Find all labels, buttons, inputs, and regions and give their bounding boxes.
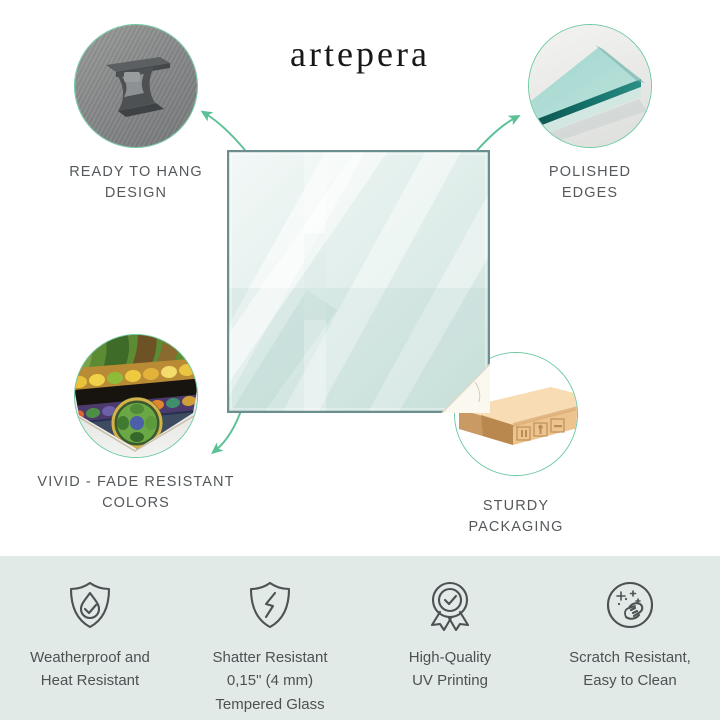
feature-image-wrap xyxy=(528,24,652,148)
glass-panel-product xyxy=(227,150,490,413)
spec-weatherproof: Weatherproof and Heat Resistant xyxy=(3,578,178,693)
feature-label: STURDY PACKAGING xyxy=(416,496,616,538)
spec-shatter-resistant: Shatter Resistant 0,15" (4 mm) Tempered … xyxy=(183,578,358,716)
feature-vivid-colors: VIVID - FADE RESISTANT COLORS xyxy=(36,334,236,514)
spec-bar: Weatherproof and Heat Resistant Shatter … xyxy=(0,556,720,720)
spec-label: Shatter Resistant 0,15" (4 mm) Tempered … xyxy=(183,646,358,716)
shield-bolt-icon xyxy=(183,578,358,632)
colorful-artwork-photo xyxy=(75,335,197,457)
polished-edges-circle xyxy=(528,24,652,148)
feature-label: VIVID - FADE RESISTANT COLORS xyxy=(36,472,236,514)
artwork-shape-icon xyxy=(75,335,198,458)
award-ribbon-check-icon xyxy=(363,578,538,632)
hanging-bracket-photo xyxy=(75,25,197,147)
product-infographic: artepera xyxy=(0,0,720,720)
spec-label: High-Quality UV Printing xyxy=(363,646,538,693)
glass-edge-photo xyxy=(529,25,651,147)
spec-uv-printing: High-Quality UV Printing xyxy=(363,578,538,693)
sparkle-cleaning-hand-icon xyxy=(543,578,718,632)
spec-scratch-resistant: Scratch Resistant, Easy to Clean xyxy=(543,578,718,693)
glass-corner-shape-icon xyxy=(529,25,652,148)
spec-label: Scratch Resistant, Easy to Clean xyxy=(543,646,718,693)
ready-to-hang-circle xyxy=(74,24,198,148)
feature-ready-to-hang: READY TO HANG DESIGN xyxy=(36,24,236,204)
bracket-shape-icon xyxy=(98,49,174,123)
feature-label: READY TO HANG DESIGN xyxy=(36,162,236,204)
feature-image-wrap xyxy=(74,334,198,458)
shield-droplet-check-icon xyxy=(3,578,178,632)
feature-polished-edges: POLISHED EDGES xyxy=(490,24,690,204)
vivid-colors-circle xyxy=(74,334,198,458)
feature-image-wrap xyxy=(74,24,198,148)
spec-label: Weatherproof and Heat Resistant xyxy=(3,646,178,693)
feature-label: POLISHED EDGES xyxy=(490,162,690,204)
